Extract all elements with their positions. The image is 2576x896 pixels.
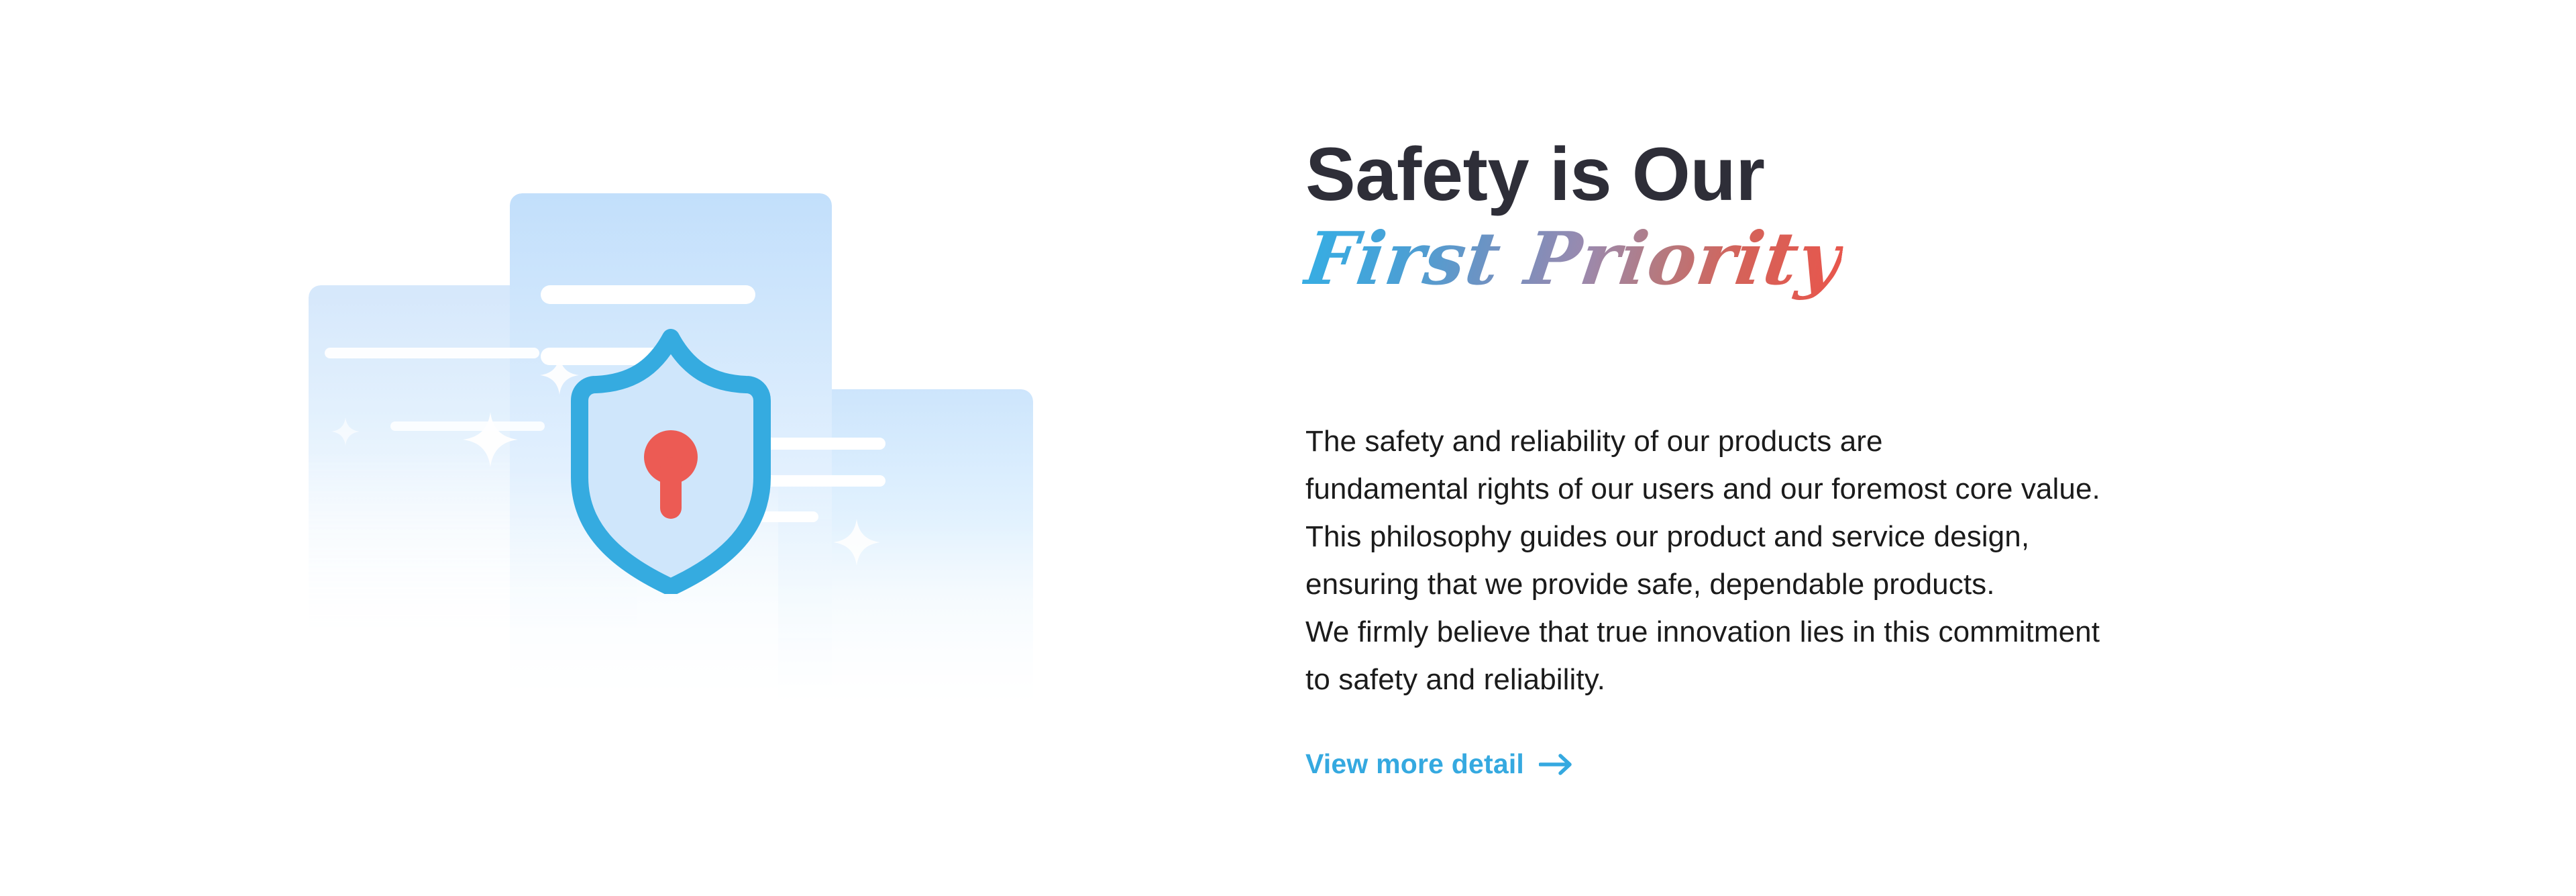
view-more-detail-label: View more detail <box>1305 748 1524 780</box>
shield-icon <box>563 326 778 594</box>
body-line: The safety and reliability of our produc… <box>1305 417 2325 465</box>
arrow-right-icon <box>1539 753 1574 776</box>
safety-hero-section: Safety is Our First Priority The safety … <box>0 0 2576 896</box>
view-more-detail-link[interactable]: View more detail <box>1305 748 1574 780</box>
body-line: We firmly believe that true innovation l… <box>1305 608 2325 656</box>
headline-line-2: First Priority <box>1299 214 1848 305</box>
hero-content: Safety is Our First Priority The safety … <box>1305 0 2379 896</box>
body-line: ensuring that we provide safe, dependabl… <box>1305 560 2325 608</box>
body-line: fundamental rights of our users and our … <box>1305 465 2325 513</box>
body-line: This philosophy guides our product and s… <box>1305 513 2325 560</box>
sparkle-icon <box>331 416 360 447</box>
illustration-stage <box>309 161 1020 725</box>
page-title: Safety is Our First Priority <box>1305 134 2312 305</box>
sparkle-icon <box>833 517 880 568</box>
placeholder-line <box>541 285 755 304</box>
body-line: to safety and reliability. <box>1305 656 2325 703</box>
sparkle-icon <box>463 409 518 470</box>
body-paragraph: The safety and reliability of our produc… <box>1305 417 2325 703</box>
headline-line-1: Safety is Our <box>1305 134 2312 215</box>
security-shield-documents-illustration <box>0 0 1288 896</box>
placeholder-line <box>325 348 539 358</box>
